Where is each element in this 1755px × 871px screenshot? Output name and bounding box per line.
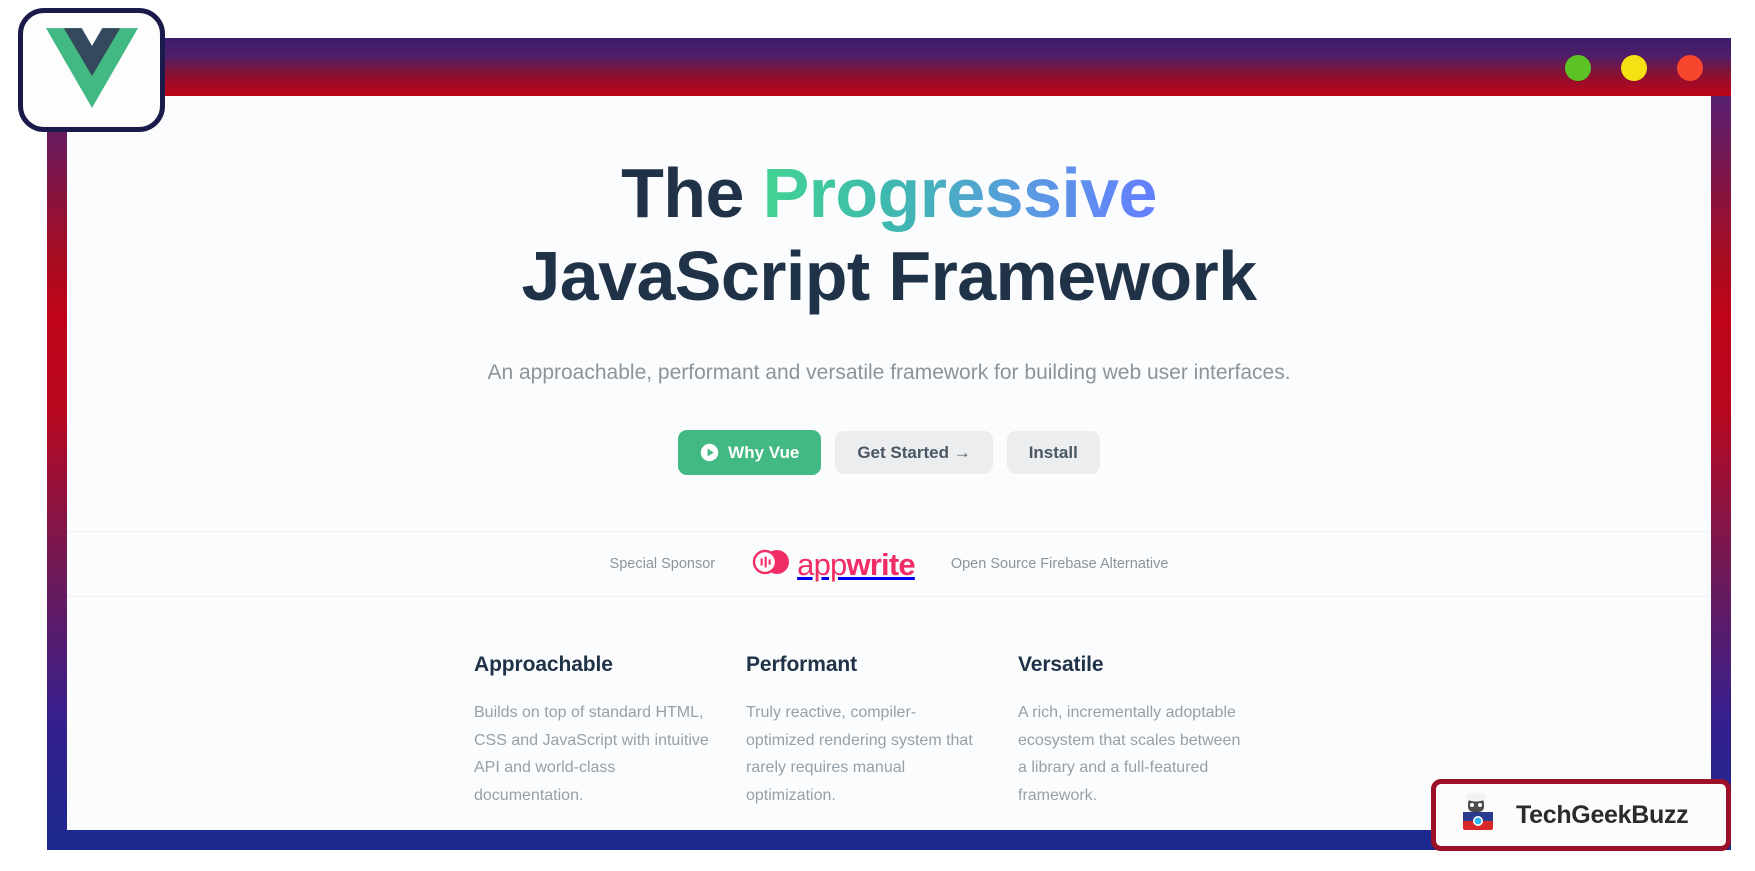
sponsor-label: Special Sponsor [610, 556, 716, 572]
maximize-button[interactable] [1621, 55, 1647, 81]
features-section: Approachable Builds on top of standard H… [67, 597, 1711, 809]
techgeekbuzz-robot-logo-icon [1454, 790, 1502, 841]
minimize-button[interactable] [1565, 55, 1591, 81]
install-button[interactable]: Install [1007, 431, 1100, 474]
feature-performant-title: Performant [746, 653, 1018, 677]
sponsor-description: Open Source Firebase Alternative [951, 556, 1169, 572]
window-titlebar [47, 38, 1731, 96]
page-viewport: The Progressive JavaScript Framework An … [67, 96, 1711, 830]
techgeekbuzz-watermark: TechGeekBuzz [1431, 779, 1731, 851]
hero-tagline: An approachable, performant and versatil… [67, 357, 1711, 389]
install-button-label: Install [1029, 444, 1078, 461]
feature-performant: Performant Truly reactive, compiler-opti… [746, 653, 1018, 809]
feature-versatile-body: A rich, incrementally adoptable ecosyste… [1018, 699, 1253, 809]
hero-title-gradient-word: Progressive [763, 154, 1157, 232]
feature-approachable-body: Builds on top of standard HTML, CSS and … [474, 699, 709, 809]
appwrite-wordmark: appwrite [797, 549, 915, 580]
browser-window-frame: The Progressive JavaScript Framework An … [47, 38, 1731, 850]
get-started-button[interactable]: Get Started → [835, 431, 992, 474]
appwrite-word-app: app [797, 547, 846, 582]
why-vue-button[interactable]: Why Vue [678, 430, 821, 475]
watermark-label: TechGeekBuzz [1516, 801, 1688, 830]
window-controls[interactable] [1565, 55, 1703, 81]
hero-title-line-2: JavaScript Framework [521, 237, 1256, 315]
play-circle-icon [700, 443, 719, 462]
hero-section: The Progressive JavaScript Framework An … [67, 96, 1711, 475]
feature-versatile: Versatile A rich, incrementally adoptabl… [1018, 653, 1290, 809]
close-button[interactable] [1677, 55, 1703, 81]
feature-approachable: Approachable Builds on top of standard H… [474, 653, 746, 809]
special-sponsor-band: Special Sponsor appwrite [67, 531, 1711, 597]
feature-approachable-title: Approachable [474, 653, 746, 677]
feature-performant-body: Truly reactive, compiler-optimized rende… [746, 699, 981, 809]
page-title: The Progressive JavaScript Framework [67, 152, 1711, 319]
screenshot-root: The Progressive JavaScript Framework An … [0, 0, 1755, 871]
appwrite-mark-icon [751, 548, 791, 581]
get-started-button-label: Get Started → [857, 444, 970, 461]
vue-logo-badge [18, 8, 165, 132]
feature-versatile-title: Versatile [1018, 653, 1290, 677]
hero-title-part-1: The [621, 154, 763, 232]
why-vue-button-label: Why Vue [728, 444, 799, 461]
hero-action-buttons: Why Vue Get Started → Install [67, 430, 1711, 475]
appwrite-word-write: write [846, 547, 914, 582]
vue-logo-icon [46, 28, 138, 113]
appwrite-sponsor-link[interactable]: appwrite [751, 548, 915, 581]
